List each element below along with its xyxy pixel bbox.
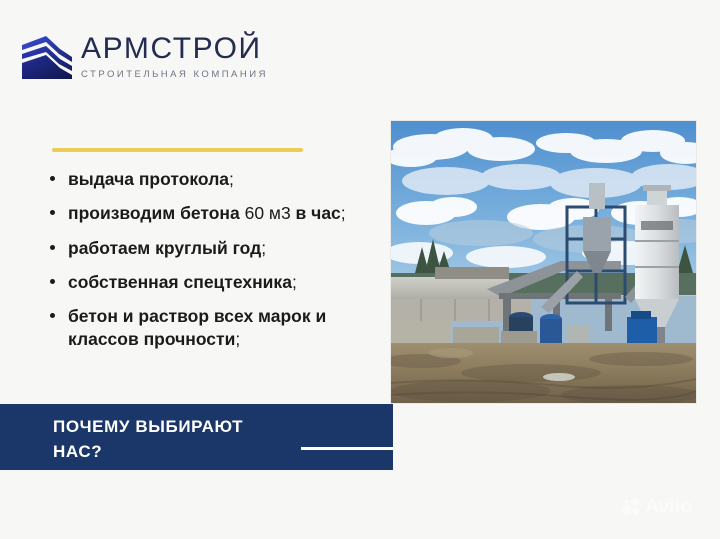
avito-dots-icon <box>622 497 642 517</box>
list-item: работаем круглый год; <box>48 237 388 260</box>
list-item: производим бетона 60 м3 в час; <box>48 202 388 225</box>
list-item-text: производим бетона <box>68 203 240 223</box>
logo-title: АРМСТРОЙ <box>81 34 268 64</box>
banner-rule <box>301 447 393 450</box>
list-item-text: бетон и раствор всех марок и классов про… <box>68 306 326 349</box>
banner-heading-line2: НАС? <box>53 442 102 461</box>
list-item-measure: 60 м3 <box>240 203 296 223</box>
banner-heading: ПОЧЕМУ ВЫБИРАЮТ НАС? <box>53 415 303 464</box>
list-item-tail: ; <box>341 203 346 223</box>
list-item-text: выдача протокола <box>68 169 229 189</box>
list-item-text: работаем круглый год <box>68 238 261 258</box>
building-stairs-icon <box>16 33 72 79</box>
avito-watermark: Avito <box>622 494 708 520</box>
logo-text-block: АРМСТРОЙ СТРОИТЕЛЬНАЯ КОМПАНИЯ <box>81 33 268 80</box>
benefits-list: выдача протокола; производим бетона 60 м… <box>48 168 388 363</box>
avito-wordmark: Avito <box>645 497 692 517</box>
promo-slide: АРМСТРОЙ СТРОИТЕЛЬНАЯ КОМПАНИЯ выдача пр… <box>0 0 720 539</box>
list-item: собственная спецтехника; <box>48 271 388 294</box>
why-choose-us-banner: ПОЧЕМУ ВЫБИРАЮТ НАС? <box>0 404 393 470</box>
concrete-plant-photo <box>391 121 696 403</box>
list-item-tail: ; <box>292 272 297 292</box>
accent-rule <box>52 148 303 152</box>
logo-subtitle: СТРОИТЕЛЬНАЯ КОМПАНИЯ <box>81 70 268 80</box>
banner-heading-line1: ПОЧЕМУ ВЫБИРАЮТ <box>53 417 243 436</box>
list-item: бетон и раствор всех марок и классов про… <box>48 305 388 352</box>
list-item-text: собственная спецтехника <box>68 272 292 292</box>
company-logo: АРМСТРОЙ СТРОИТЕЛЬНАЯ КОМПАНИЯ <box>16 33 268 80</box>
list-item: выдача протокола; <box>48 168 388 191</box>
list-item-tail: ; <box>235 329 240 349</box>
list-item-text2: в час <box>296 203 341 223</box>
list-item-tail: ; <box>229 169 234 189</box>
list-item-tail: ; <box>261 238 266 258</box>
